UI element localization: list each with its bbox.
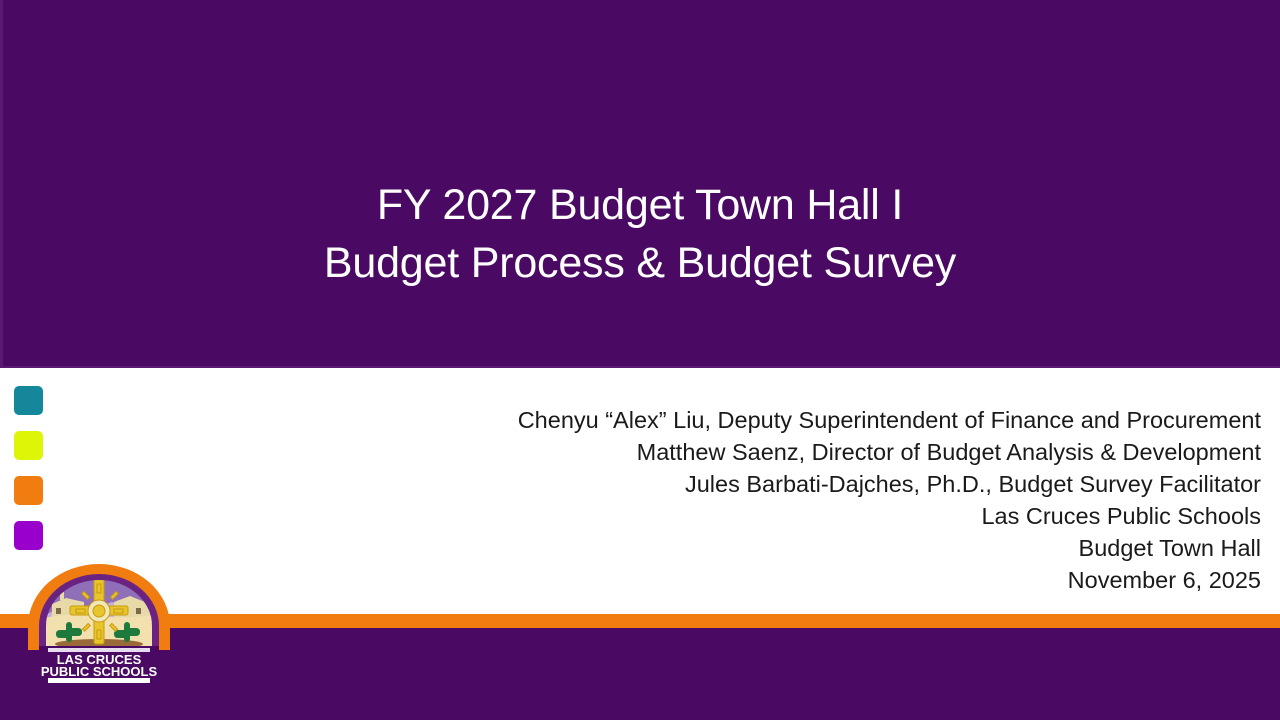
byline-block: Chenyu “Alex” Liu, Deputy Superintendent… <box>361 404 1261 596</box>
lcps-logo: LAS CRUCES PUBLIC SCHOOLS <box>26 564 172 686</box>
byline-line: Budget Town Hall <box>361 532 1261 564</box>
byline-line: Las Cruces Public Schools <box>361 500 1261 532</box>
lcps-logo-graphic: LAS CRUCES PUBLIC SCHOOLS <box>26 564 172 686</box>
accent-square-orange <box>14 476 43 505</box>
byline-line: Jules Barbati-Dajches, Ph.D., Budget Sur… <box>361 468 1261 500</box>
footer-purple-band <box>0 628 1280 720</box>
slide-title-line-1: FY 2027 Budget Town Hall I <box>0 176 1280 234</box>
footer-orange-rule <box>0 614 1280 628</box>
byline-line: Chenyu “Alex” Liu, Deputy Superintendent… <box>361 404 1261 436</box>
logo-text-line-2: PUBLIC SCHOOLS <box>41 664 158 679</box>
byline-line: November 6, 2025 <box>361 564 1261 596</box>
slide-root: FY 2027 Budget Town Hall I Budget Proces… <box>0 0 1280 720</box>
title-band-bottom-edge <box>0 366 1280 368</box>
logo-window-1 <box>56 608 61 614</box>
accent-square-teal <box>14 386 43 415</box>
logo-window-4 <box>136 608 141 614</box>
accent-square-chartreuse <box>14 431 43 460</box>
slide-title: FY 2027 Budget Town Hall I Budget Proces… <box>0 176 1280 292</box>
accent-square-purple <box>14 521 43 550</box>
byline-line: Matthew Saenz, Director of Budget Analys… <box>361 436 1261 468</box>
slide-title-line-2: Budget Process & Budget Survey <box>0 234 1280 292</box>
accent-square-column <box>14 386 44 566</box>
